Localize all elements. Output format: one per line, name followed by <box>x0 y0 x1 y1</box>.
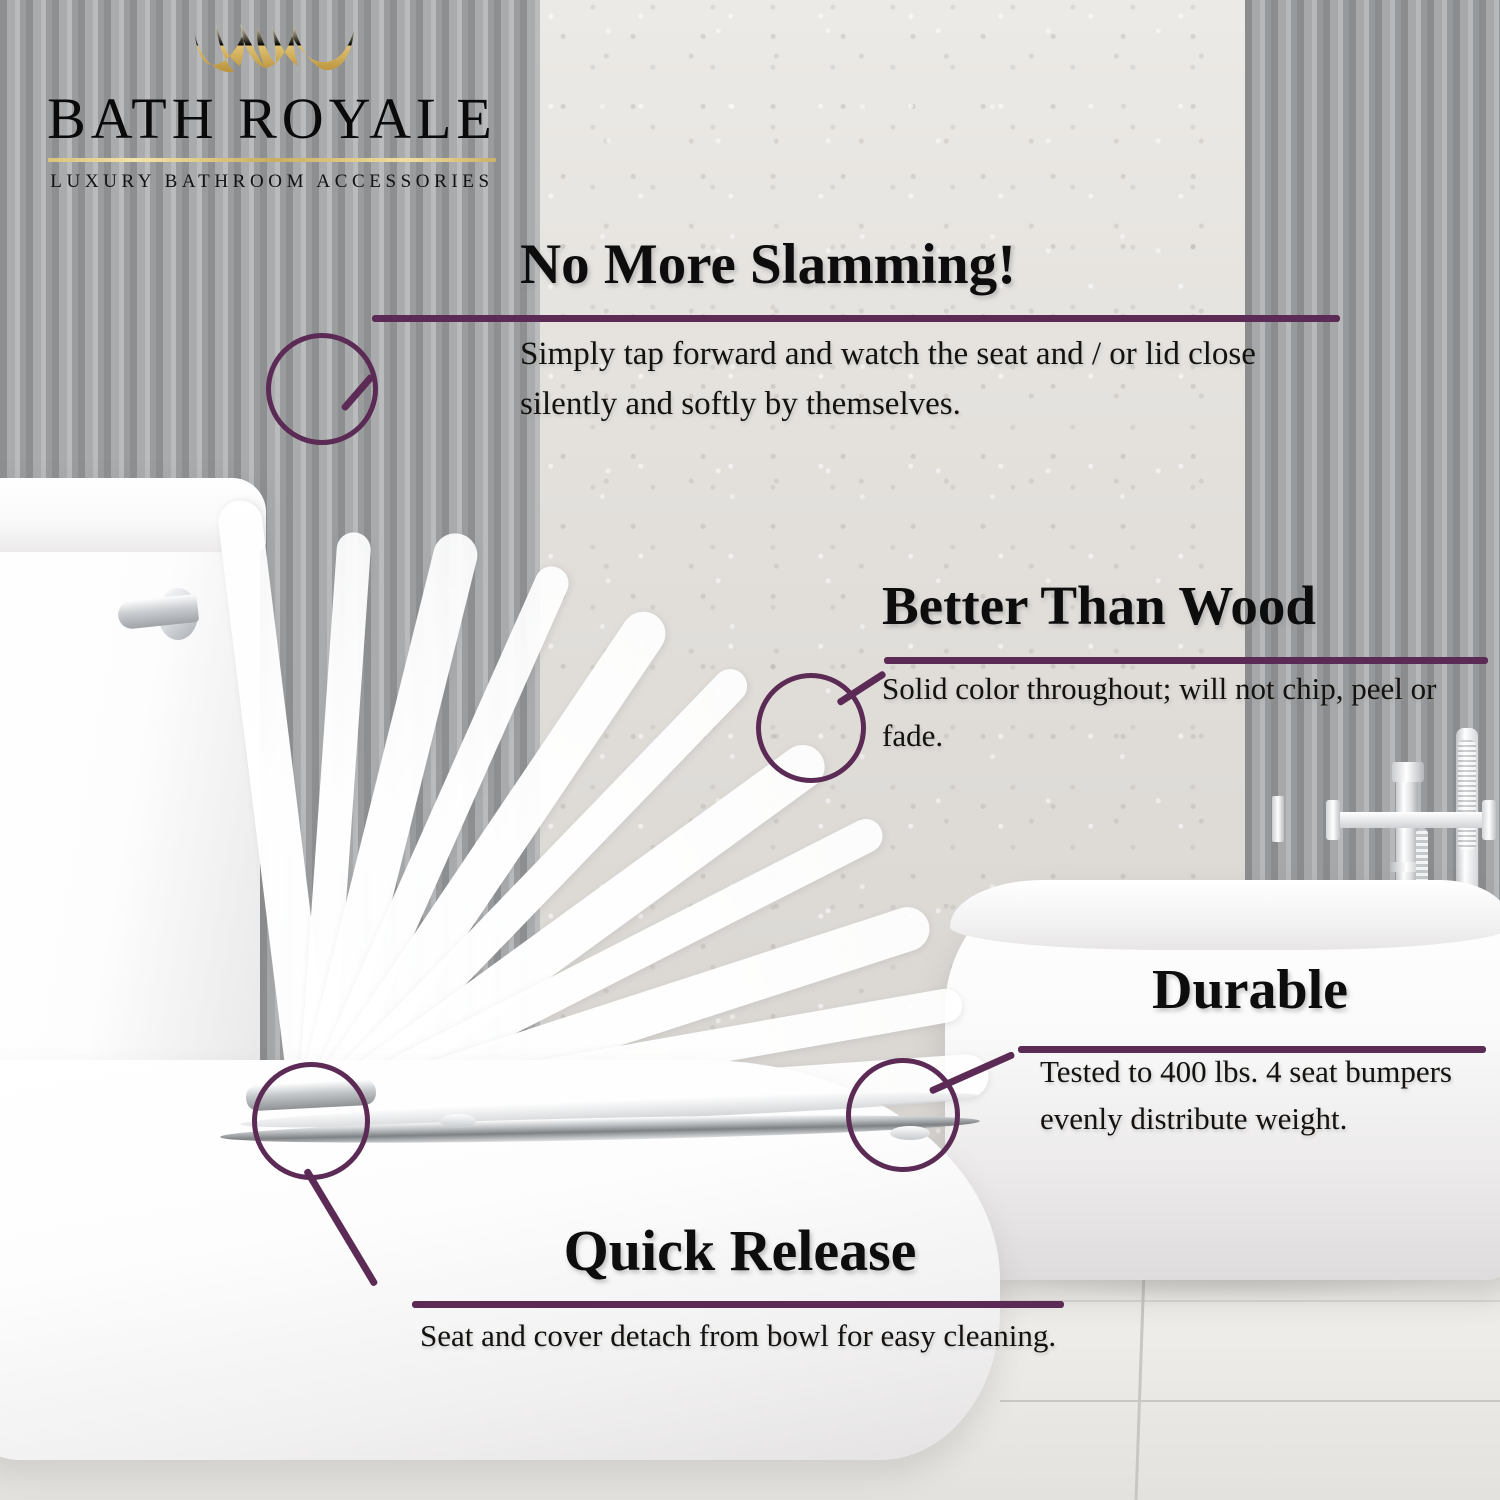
toilet-tank <box>0 478 260 1118</box>
toilet-tank-lid <box>0 478 266 552</box>
callout-quick-release: Quick Release Seat and cover detach from… <box>420 1222 1080 1359</box>
callout-no-more-slamming: No More Slamming! Simply tap forward and… <box>520 236 1350 429</box>
bathtub-rim <box>950 880 1500 950</box>
callout-marker-better-than-wood <box>756 673 866 783</box>
callout-marker-durable <box>846 1058 960 1172</box>
callout-heading: No More Slamming! <box>520 236 1350 293</box>
product-infographic: BATH ROYALE LUXURY BATHROOM ACCESSORIES … <box>0 0 1500 1500</box>
tile-grout-line <box>1000 1400 1500 1402</box>
tub-faucet-crossbar <box>1330 812 1495 828</box>
tub-faucet-handle-left <box>1326 800 1340 840</box>
callout-better-than-wood: Better Than Wood Solid color throughout;… <box>882 578 1500 759</box>
tub-faucet-handle-right <box>1482 800 1496 840</box>
brand-name: BATH ROYALE <box>22 90 522 148</box>
tub-faucet-spout <box>1392 762 1424 782</box>
faucet-side-bar <box>1272 796 1284 842</box>
brand-tagline: LUXURY BATHROOM ACCESSORIES <box>22 171 522 193</box>
callout-heading: Better Than Wood <box>882 578 1500 633</box>
logo-divider <box>48 158 496 162</box>
crown-icon <box>172 16 372 94</box>
callout-body: Solid color throughout; will not chip, p… <box>882 665 1482 759</box>
callout-heading: Durable <box>1040 962 1460 1018</box>
callout-body: Tested to 400 lbs. 4 seat bumpers evenly… <box>1040 1048 1470 1142</box>
callout-marker-quick-release <box>252 1062 370 1180</box>
callout-heading: Quick Release <box>420 1222 1060 1280</box>
callout-body: Seat and cover detach from bowl for easy… <box>420 1312 1070 1359</box>
callout-durable: Durable Tested to 400 lbs. 4 seat bumper… <box>1040 962 1490 1142</box>
callout-body: Simply tap forward and watch the seat an… <box>520 329 1320 429</box>
brand-logo: BATH ROYALE LUXURY BATHROOM ACCESSORIES <box>22 16 522 193</box>
seat-bumper <box>440 1114 476 1128</box>
